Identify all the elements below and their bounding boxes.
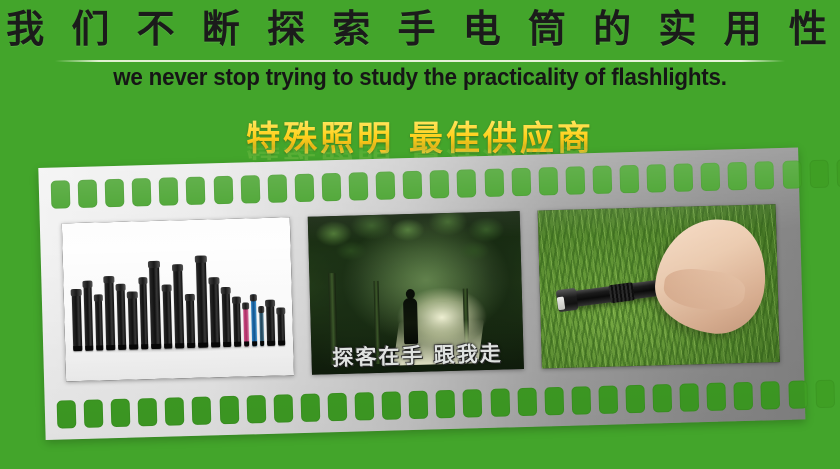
product-lineup-photo (62, 217, 294, 381)
perforation-hole (430, 170, 450, 199)
headline-english: we never stop trying to study the practi… (29, 64, 810, 92)
perforation-hole (294, 174, 314, 203)
headline-chinese: 我 们 不 断 探 索 手 电 筒 的 实 用 性 (0, 4, 840, 54)
flashlight-row (70, 235, 285, 351)
perforation-hole (484, 168, 504, 197)
perforation-hole (463, 389, 483, 418)
perforation-hole (652, 384, 672, 413)
perforation-hole (517, 388, 537, 417)
perforation-hole (755, 161, 775, 190)
perforation-hole (273, 394, 293, 423)
flashlight-item (251, 294, 257, 346)
film-frame-hand-flashlight (538, 204, 780, 368)
flashlight-item (83, 281, 93, 351)
perforation-hole (165, 397, 185, 426)
film-frame-flashlight-lineup (62, 217, 294, 381)
perforation-hole (192, 396, 212, 425)
perforation-hole (355, 392, 375, 421)
perforation-hole (511, 168, 531, 197)
perforation-hole (701, 163, 721, 192)
flashlight-item (259, 306, 264, 346)
flashlight-item (139, 277, 148, 349)
perforation-hole (490, 388, 510, 417)
perforation-hole (213, 176, 233, 205)
perforation-hole (544, 387, 564, 416)
flashlight-item (116, 284, 126, 350)
perforation-hole (240, 175, 260, 204)
perforation-hole (322, 173, 342, 202)
perforation-hole (219, 396, 239, 425)
flashlight-knurled-grip (608, 282, 634, 303)
flashlight-item (243, 302, 249, 346)
perforation-hole (403, 171, 423, 200)
flashlight-item (186, 294, 195, 348)
perforation-hole (327, 393, 347, 422)
perforation-hole (84, 399, 104, 428)
perforation-hole (246, 395, 266, 424)
perforation-hole (625, 385, 645, 414)
perforation-hole (809, 160, 829, 189)
perforation-hole (105, 179, 125, 208)
perforation-hole (267, 174, 287, 203)
flashlight-item (222, 287, 232, 347)
perforation-hole (788, 380, 808, 409)
frame-caption-chinese: 探客在手 跟我走 (311, 337, 524, 373)
person-silhouette (403, 297, 418, 343)
perforation-hole (647, 164, 667, 193)
perforation-hole (538, 167, 558, 196)
perforation-hole (734, 382, 754, 411)
perforation-hole (132, 178, 152, 207)
perforation-hole (707, 383, 727, 412)
perforation-hole (680, 383, 700, 412)
flashlight-item (173, 264, 184, 348)
perforation-hole (159, 177, 179, 206)
perforation-hole (409, 391, 429, 420)
perforation-hole (836, 159, 840, 188)
flashlight-item (196, 256, 208, 348)
perforation-hole (51, 180, 71, 209)
perforation-hole (565, 166, 585, 195)
perforation-hole (57, 400, 77, 429)
flashlight-item (209, 277, 220, 347)
flashlight-item (72, 289, 83, 351)
perforation-hole (111, 399, 131, 428)
perforation-hole (436, 390, 456, 419)
perforation-hole (138, 398, 158, 427)
perforation-hole (592, 166, 612, 195)
perforation-hole (349, 172, 369, 201)
perforation-hole (728, 162, 748, 191)
perforation-hole (78, 179, 98, 208)
flashlight-lens (556, 297, 565, 311)
flashlight-item (128, 291, 139, 349)
perforation-hole (598, 385, 618, 414)
perforation-hole (376, 171, 396, 200)
headline-divider (55, 60, 785, 62)
flashlight-item (149, 261, 161, 349)
perforation-hole (761, 381, 781, 410)
flashlight-item (277, 307, 285, 345)
perforation-hole (382, 391, 402, 420)
perforation-hole (457, 169, 477, 198)
flashlight-item (233, 297, 241, 347)
flashlight-item (163, 285, 173, 349)
tree-canopy (308, 211, 522, 305)
perforation-hole (619, 165, 639, 194)
perforation-hole (186, 177, 206, 206)
flashlight-item (104, 276, 115, 350)
poster-canvas: 我 们 不 断 探 索 手 电 筒 的 实 用 性 we never stop … (0, 0, 840, 469)
perforation-hole (782, 160, 802, 189)
grass-photo (538, 204, 780, 368)
perforation-hole (571, 386, 591, 415)
flashlight-item (95, 294, 104, 350)
perforation-hole (815, 380, 835, 409)
perforation-hole (300, 394, 320, 423)
film-frame-night-forest: 探客在手 跟我走 (308, 211, 524, 375)
flashlight-item (266, 300, 275, 346)
perforation-hole (674, 163, 694, 192)
filmstrip: 探客在手 跟我走 (38, 147, 805, 439)
hand-knuckles (661, 266, 746, 314)
